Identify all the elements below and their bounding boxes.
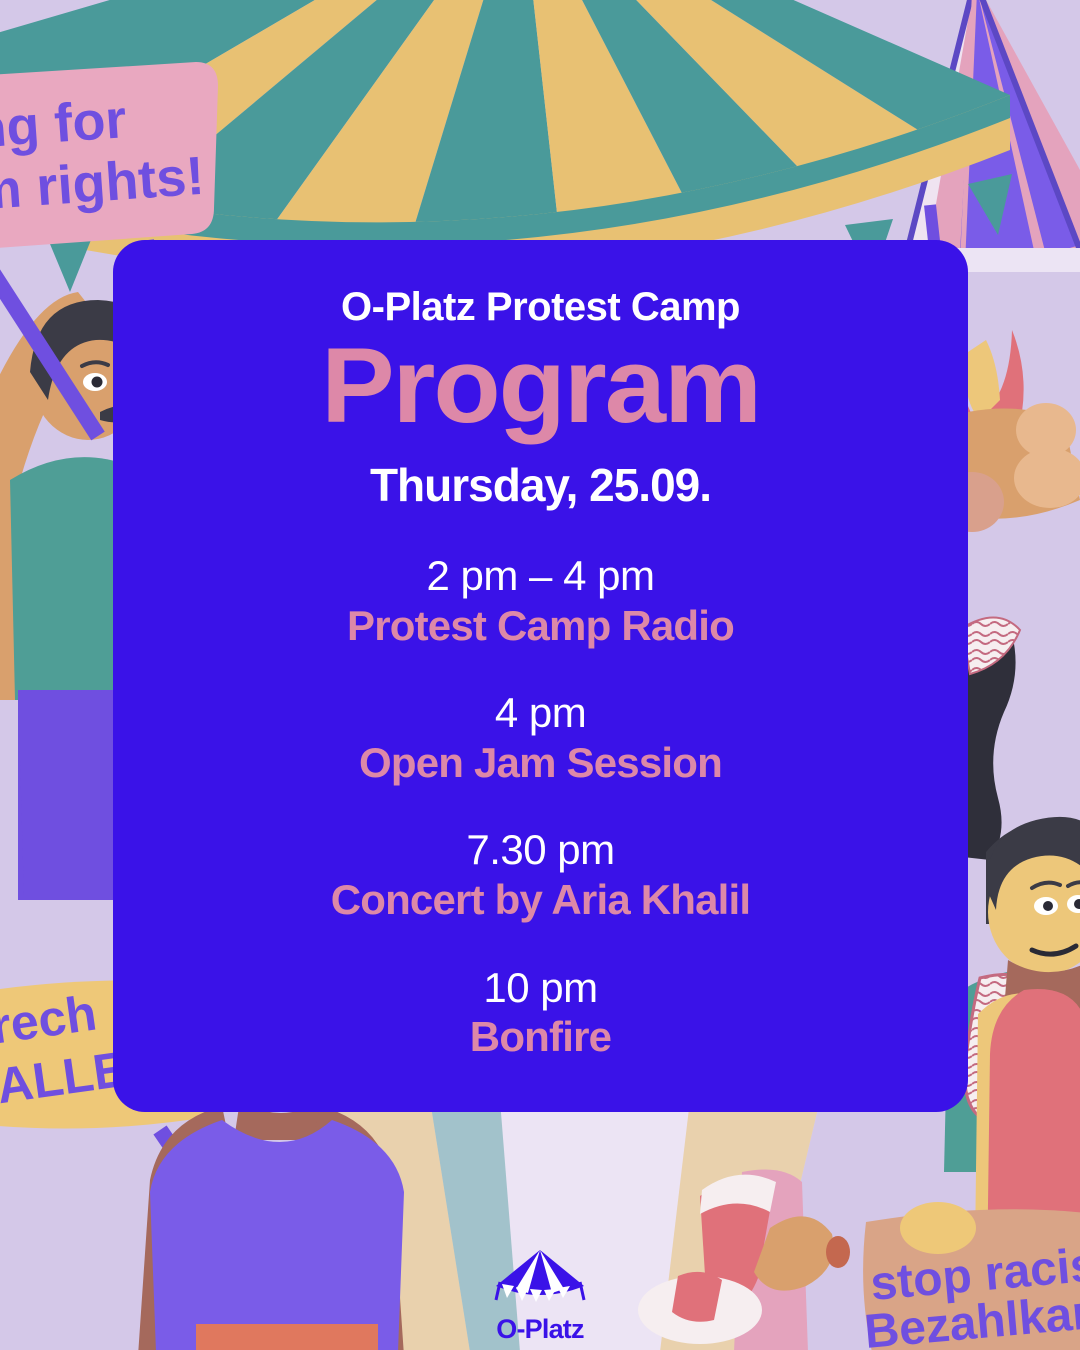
logo-label: O-Platz	[0, 1314, 1080, 1345]
schedule-item-time: 10 pm	[113, 963, 968, 1013]
schedule-item-time: 2 pm – 4 pm	[113, 551, 968, 601]
poster-root: ting for um rights! berech ur ALLE	[0, 0, 1080, 1350]
program-date: Thursday, 25.09.	[113, 461, 968, 509]
schedule-item: 7.30 pm Concert by Aria Khalil	[113, 825, 968, 924]
schedule-item-time: 7.30 pm	[113, 825, 968, 875]
schedule-item: 10 pm Bonfire	[113, 963, 968, 1062]
card-kicker: O-Platz Protest Camp	[113, 286, 968, 328]
schedule-item: 2 pm – 4 pm Protest Camp Radio	[113, 551, 968, 650]
schedule-item-time: 4 pm	[113, 688, 968, 738]
schedule-item-name: Bonfire	[113, 1012, 968, 1062]
schedule-item-name: Protest Camp Radio	[113, 601, 968, 651]
schedule-item-name: Concert by Aria Khalil	[113, 875, 968, 925]
schedule-item: 4 pm Open Jam Session	[113, 688, 968, 787]
circus-tent-icon	[492, 1248, 588, 1308]
schedule-item-name: Open Jam Session	[113, 738, 968, 788]
program-card: O-Platz Protest Camp Program Thursday, 2…	[113, 240, 968, 1112]
o-platz-logo: O-Platz	[0, 1248, 1080, 1345]
page-title: Program	[100, 332, 981, 439]
schedule-list: 2 pm – 4 pm Protest Camp Radio 4 pm Open…	[113, 551, 968, 1061]
